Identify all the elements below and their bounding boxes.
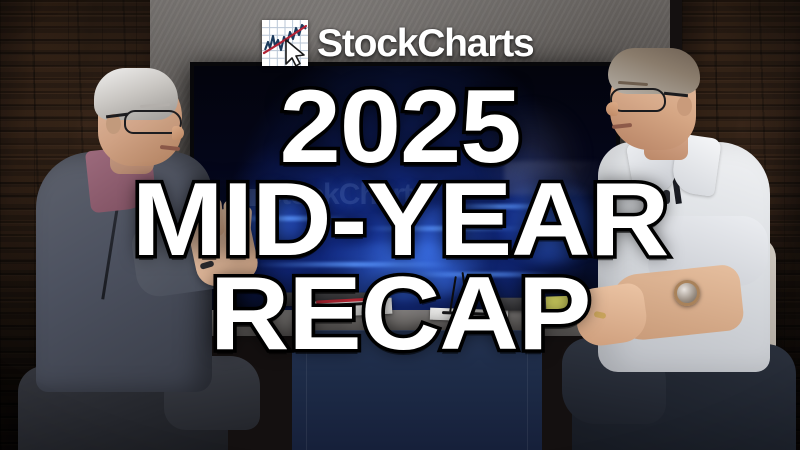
video-thumbnail-stage: StockCharts [0,0,800,450]
studio-display-bezel: StockCharts [190,62,620,315]
screen-glow-blob [290,242,520,300]
person-left-nose [172,126,184,140]
wristwatch-icon [674,280,700,306]
stockcharts-wordmark: StockCharts [317,24,534,63]
person-right [566,48,796,450]
screen-glow-bar [254,262,454,267]
lapel-microphone-icon [663,190,670,204]
person-right-nose [606,102,618,116]
stockcharts-logo-lockup: StockCharts [262,20,534,66]
screen-watermark-text: StockCharts [262,178,428,211]
person-left [14,70,254,450]
desk-front-panel [292,330,542,450]
stockcharts-chart-cursor-icon [262,20,308,66]
finger [237,206,253,245]
studio-display-screen: StockCharts [194,66,616,311]
finger [208,197,225,236]
screen-glow-bar [404,272,554,277]
finger [223,200,237,240]
person-right-glasses [610,88,666,112]
screen-stockcharts-watermark: StockCharts [240,178,428,212]
person-right-ear [677,96,692,116]
